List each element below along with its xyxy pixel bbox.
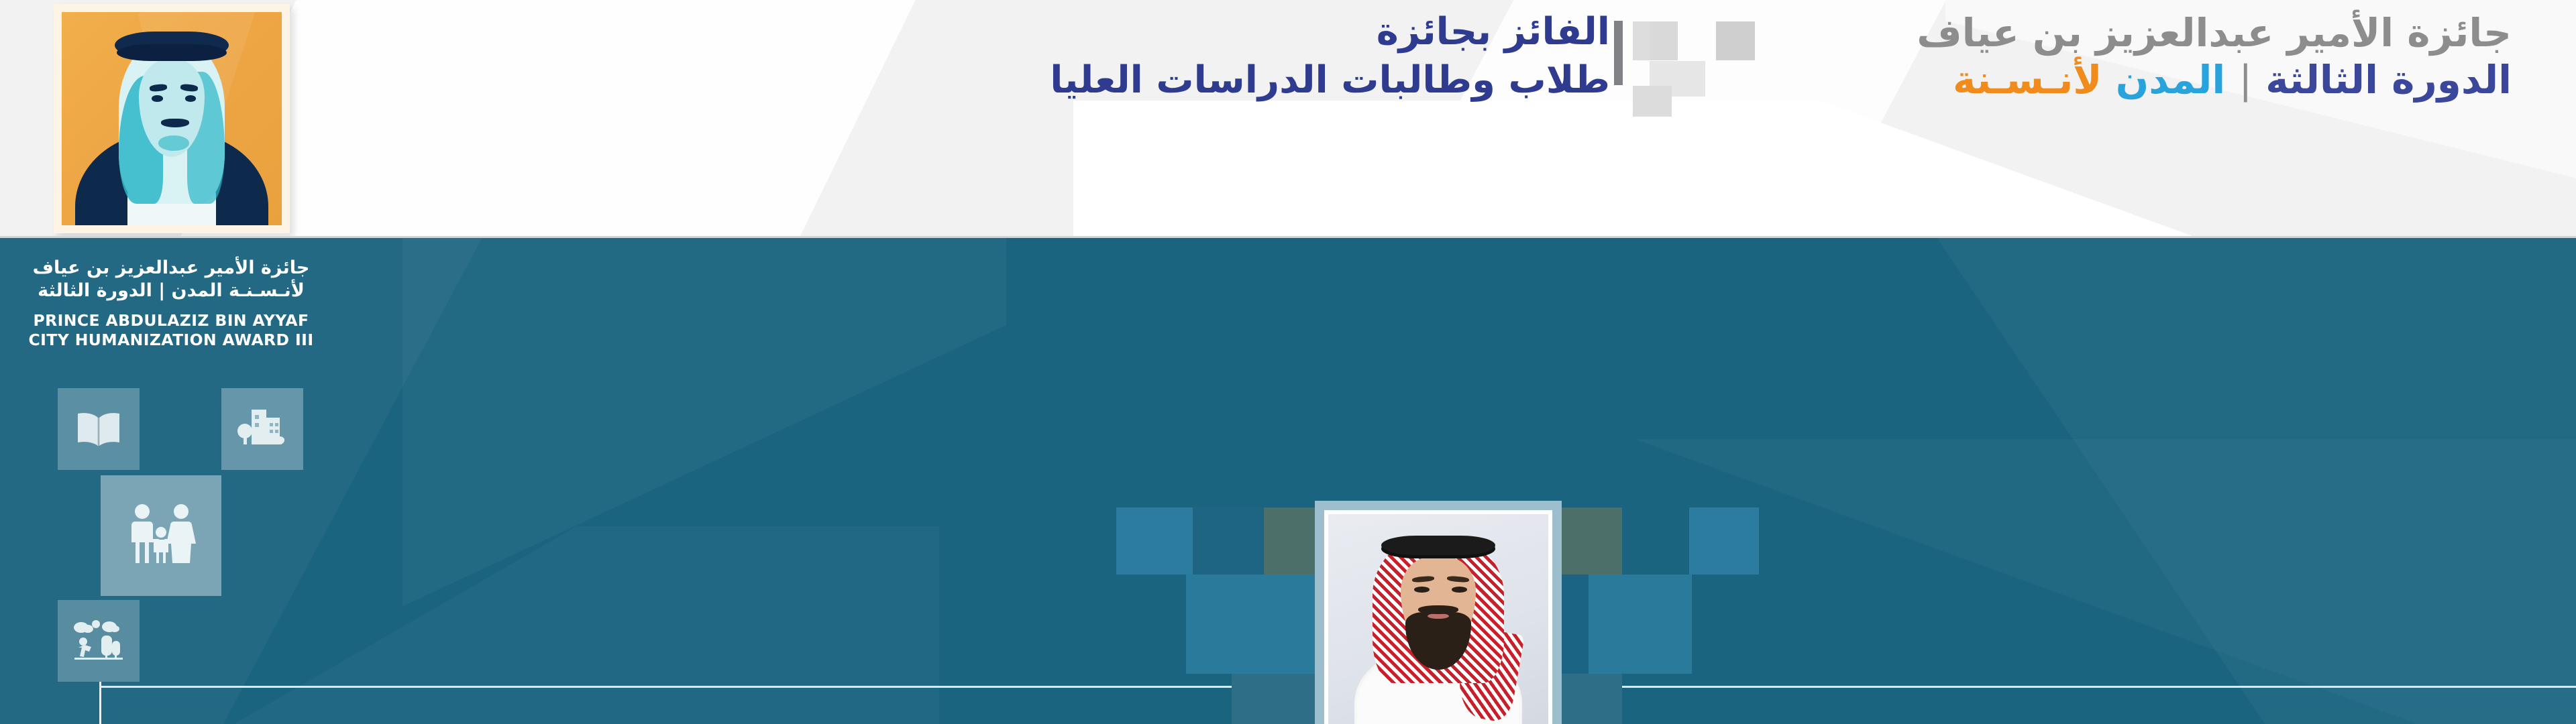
portrait-moustache bbox=[161, 119, 190, 127]
header-divider-bar bbox=[1614, 21, 1623, 85]
mosaic-square-2 bbox=[1193, 507, 1263, 575]
photo-eye-right bbox=[1452, 587, 1467, 593]
sidebar-award-arabic-line-2: لأنـسـنـة المدن | الدورة الثالثة bbox=[13, 280, 329, 302]
city-buildings-icon bbox=[237, 407, 288, 451]
prince-portrait-illustration bbox=[62, 12, 282, 225]
photo-eye-left bbox=[1414, 587, 1430, 593]
mosaic-square-4 bbox=[1186, 575, 1336, 674]
speaker-photo-image bbox=[1328, 514, 1548, 724]
award-subtitle-arabic: الدورة الثالثة | المدن لأنـسـنة bbox=[1707, 59, 2512, 102]
portrait-agal-second-ring bbox=[117, 44, 227, 61]
photo-agal bbox=[1381, 536, 1496, 556]
sidebar-award-english-line-1: PRINCE ABDULAZIZ BIN AYYAF bbox=[13, 311, 329, 330]
sidebar-tile-park bbox=[58, 600, 140, 682]
sidebar-tile-book bbox=[58, 388, 140, 470]
sidebar-award-arabic-line-1: جائزة الأمير عبدالعزيز بن عياف bbox=[13, 257, 329, 280]
header-facet-3 bbox=[1073, 101, 2576, 239]
mosaic-square-1 bbox=[1116, 507, 1193, 575]
photo-moustache bbox=[1418, 605, 1458, 614]
header-center-title: الفائز بجائزة طلاب وطالبات الدراسات العل… bbox=[872, 11, 1610, 103]
award-name-arabic: جائزة الأمير عبدالعزيز بن عياف bbox=[1707, 12, 2512, 55]
body-facet-3 bbox=[402, 238, 1006, 724]
mosaic-square-10 bbox=[1555, 674, 1622, 724]
poster-canvas: الفائز بجائزة طلاب وطالبات الدراسات العل… bbox=[0, 0, 2576, 724]
family-icon bbox=[123, 503, 199, 568]
header-gray-square-5 bbox=[1633, 86, 1672, 117]
connector-line-vertical bbox=[99, 682, 101, 724]
open-book-icon bbox=[75, 410, 122, 448]
portrait-eye-left bbox=[152, 95, 162, 102]
mosaic-square-8 bbox=[1689, 507, 1759, 575]
sidebar-award-english-line-2: CITY HUMANIZATION AWARD III bbox=[13, 330, 329, 350]
sidebar-tile-family bbox=[101, 475, 221, 596]
sidebar-award-lockup: جائزة الأمير عبدالعزيز بن عياف لأنـسـنـة… bbox=[13, 257, 329, 350]
award-pipe-separator: | bbox=[2239, 57, 2252, 103]
award-edition-text: الدورة الثالثة bbox=[2265, 57, 2512, 103]
header-band: الفائز بجائزة طلاب وطالبات الدراسات العل… bbox=[0, 0, 2576, 239]
portrait-eye-right bbox=[185, 95, 196, 102]
header-award-lockup: جائزة الأمير عبدالعزيز بن عياف الدورة ال… bbox=[1707, 12, 2512, 102]
mosaic-square-9 bbox=[1589, 575, 1692, 674]
award-humanization-text: لأنـسـنة bbox=[1953, 57, 2102, 103]
park-walking-icon bbox=[72, 619, 125, 662]
speaker-photo-frame bbox=[1315, 501, 1562, 724]
prince-portrait-frame bbox=[54, 4, 290, 233]
header-title-line-2: طلاب وطالبات الدراسات العليا bbox=[872, 59, 1610, 102]
sidebar-tile-city bbox=[221, 388, 303, 470]
mosaic-square-5 bbox=[1116, 575, 1186, 674]
header-gray-square-2 bbox=[1650, 21, 1678, 60]
speaker-photo-white-border bbox=[1324, 510, 1552, 724]
body-band: جائزة الأمير عبدالعزيز بن عياف لأنـسـنـة… bbox=[0, 238, 2576, 724]
portrait-chin bbox=[158, 135, 189, 150]
award-cities-text: المدن bbox=[2116, 57, 2226, 103]
header-title-line-1: الفائز بجائزة bbox=[872, 11, 1610, 54]
mosaic-square-7 bbox=[1555, 507, 1622, 575]
